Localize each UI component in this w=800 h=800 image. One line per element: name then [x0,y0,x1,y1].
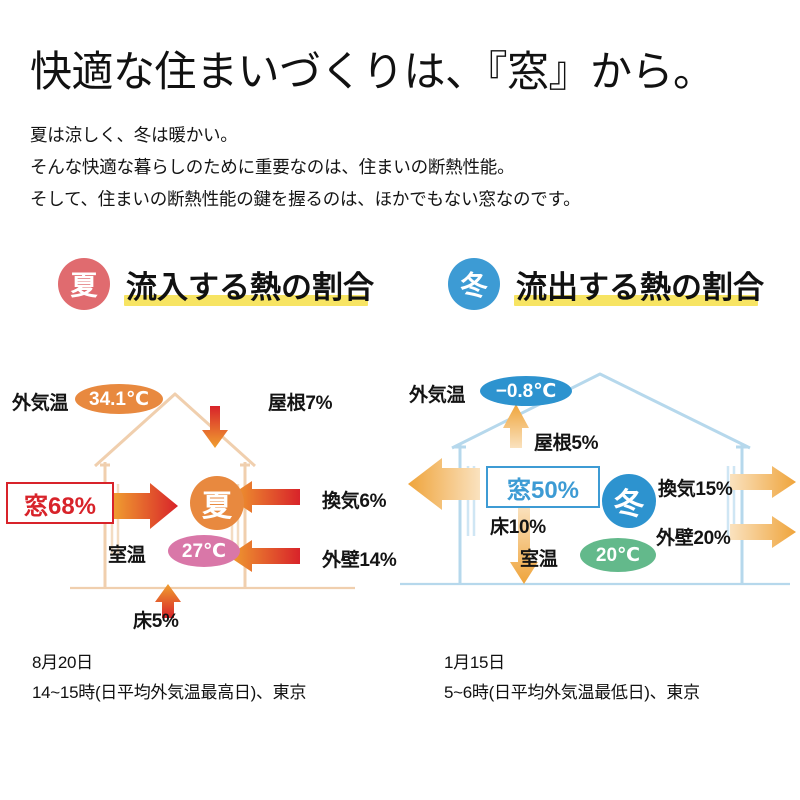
wall-arrow-winter [730,516,796,548]
indoor-temp-label-winter: 室温 [520,544,557,571]
section-header-winter: 冬 流出する熱の割合 [448,258,766,310]
summer-house-diagram: 外気温 34.1℃ 夏 室温 27℃ 窓68% 屋根7% 換気6% 外壁14% … [0,366,400,631]
vent-share-summer: 換気6% [322,486,386,513]
floor-share-summer: 床5% [133,606,179,633]
floor-share-winter: 床10% [490,512,546,539]
winter-mark: 冬 [602,474,656,528]
section-title-winter: 流出する熱の割合 [514,262,766,307]
lead-line-1: 夏は涼しく、冬は暖かい。 [30,120,580,152]
wall-share-winter: 外壁20% [656,523,731,550]
wall-share-summer: 外壁14% [322,545,397,572]
indoor-temp-value-winter: 20℃ [580,538,656,572]
lead-line-3: そして、住まいの断熱性能の鍵を握るのは、ほかでもない窓なのです。 [30,184,580,216]
infographic-page: 快適な住まいづくりは、『窓』から。 夏は涼しく、冬は暖かい。 そんな快適な暮らし… [0,0,800,800]
caption-winter-detail: 5~6時(日平均外気温最低日)、東京 [444,678,700,708]
indoor-temp-label-summer: 室温 [108,540,145,567]
indoor-temp-value-summer: 27℃ [168,535,240,567]
caption-winter: 1月15日 5~6時(日平均外気温最低日)、東京 [444,648,700,708]
section-title-summer: 流入する熱の割合 [124,262,376,307]
summer-mark: 夏 [190,476,244,530]
roof-arrow-summer [202,406,228,448]
vent-share-winter: 換気15% [658,474,733,501]
winter-house-diagram: 外気温 −0.8℃ 冬 窓50% 屋根5% 換気15% 外壁20% 床10% 室… [400,366,800,631]
caption-summer: 8月20日 14~15時(日平均外気温最高日)、東京 [32,648,306,708]
outdoor-temp-value-summer: 34.1℃ [75,384,163,414]
roof-share-summer: 屋根7% [268,388,332,415]
section-header-summer: 夏 流入する熱の割合 [58,258,376,310]
window-arrow-summer [112,483,178,529]
caption-winter-date: 1月15日 [444,648,700,678]
summer-season-badge: 夏 [58,258,110,310]
caption-summer-detail: 14~15時(日平均外気温最高日)、東京 [32,678,306,708]
vent-arrow-winter [730,466,796,498]
page-title: 快適な住まいづくりは、『窓』から。 [30,46,715,99]
window-share-winter: 窓50% [486,466,600,508]
outdoor-temp-label-summer: 外気温 [12,388,68,415]
winter-season-badge: 冬 [448,258,500,310]
lead-line-2: そんな快適な暮らしのために重要なのは、住まいの断熱性能。 [30,152,580,184]
window-share-summer: 窓68% [6,482,114,524]
roof-share-winter: 屋根5% [534,428,598,455]
caption-summer-date: 8月20日 [32,648,306,678]
outdoor-temp-label-winter: 外気温 [409,380,465,407]
outdoor-temp-value-winter: −0.8℃ [480,376,572,406]
lead-paragraph: 夏は涼しく、冬は暖かい。 そんな快適な暮らしのために重要なのは、住まいの断熱性能… [30,120,580,216]
